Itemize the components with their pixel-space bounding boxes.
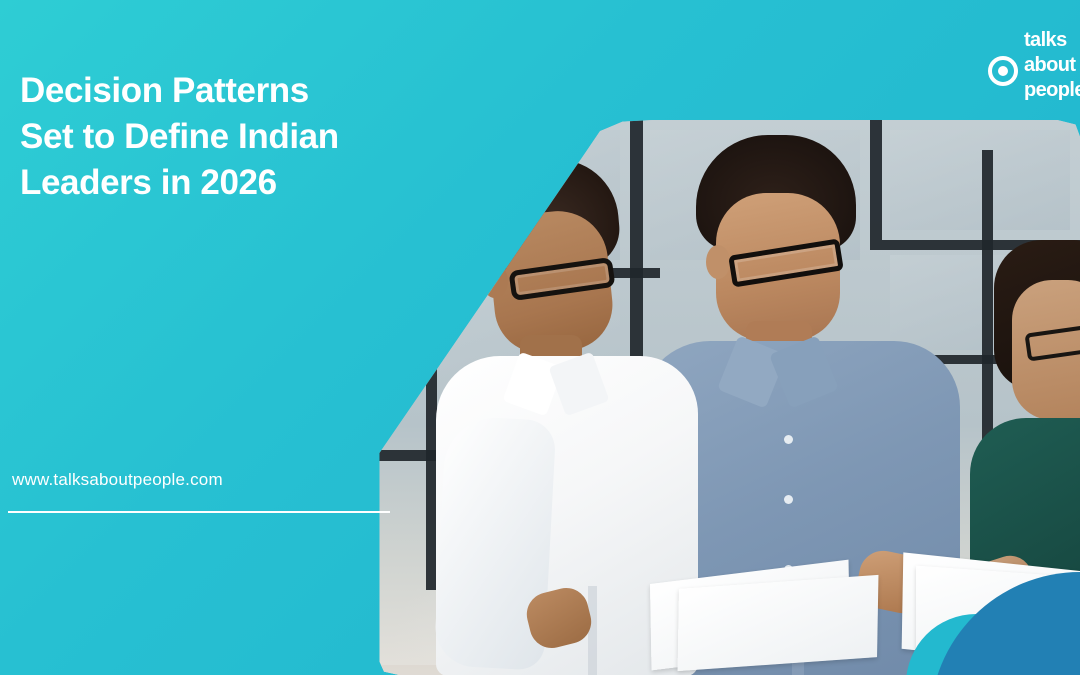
shirt-button — [784, 495, 793, 504]
brand-logo-text: talks about people — [1024, 28, 1080, 103]
shirt-button — [784, 435, 793, 444]
logo-line-1: talks — [1024, 28, 1080, 53]
ear — [706, 245, 730, 279]
promo-banner: Decision Patterns Set to Define Indian L… — [0, 0, 1080, 675]
logo-line-2: about — [1024, 53, 1080, 78]
logo-line-3: people — [1024, 78, 1080, 103]
page-title: Decision Patterns Set to Define Indian L… — [20, 68, 490, 207]
brand-logo[interactable]: talks about people — [988, 28, 1080, 110]
target-dot-icon — [988, 56, 1018, 86]
document-sheet — [678, 575, 879, 671]
website-url[interactable]: www.talksaboutpeople.com — [12, 470, 223, 490]
ear — [482, 264, 508, 298]
headline-line-3: Leaders in 2026 — [20, 160, 490, 206]
divider-line — [8, 511, 390, 513]
headline-line-2: Set to Define Indian — [20, 114, 490, 160]
headline-line-1: Decision Patterns — [20, 68, 490, 114]
